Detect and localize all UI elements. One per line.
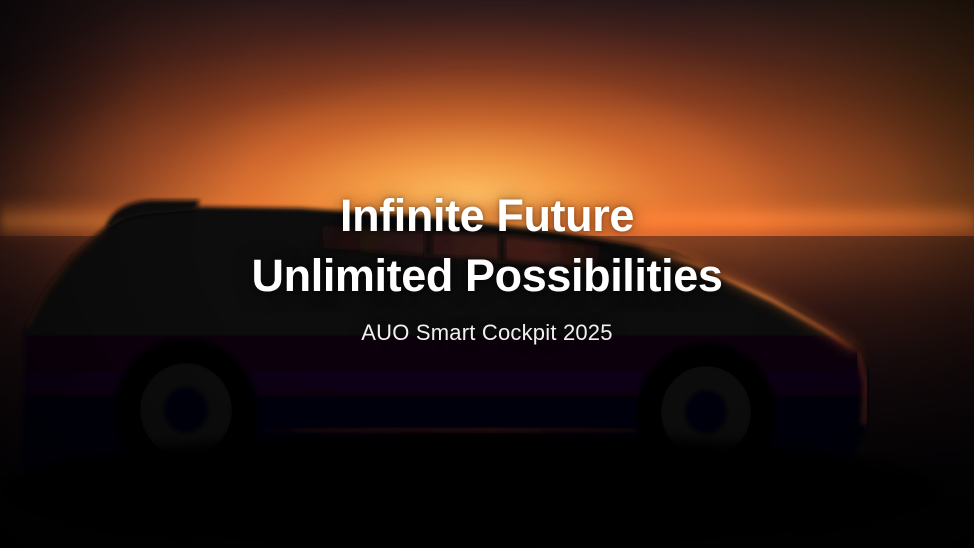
hero-headline-line-2: Unlimited Possibilities — [0, 246, 974, 306]
hero-stage: Infinite Future Unlimited Possibilities … — [0, 0, 974, 548]
hero-subhead: AUO Smart Cockpit 2025 — [0, 320, 974, 346]
hero-headline-line-1: Infinite Future — [0, 186, 974, 246]
hero-copy: Infinite Future Unlimited Possibilities … — [0, 186, 974, 346]
